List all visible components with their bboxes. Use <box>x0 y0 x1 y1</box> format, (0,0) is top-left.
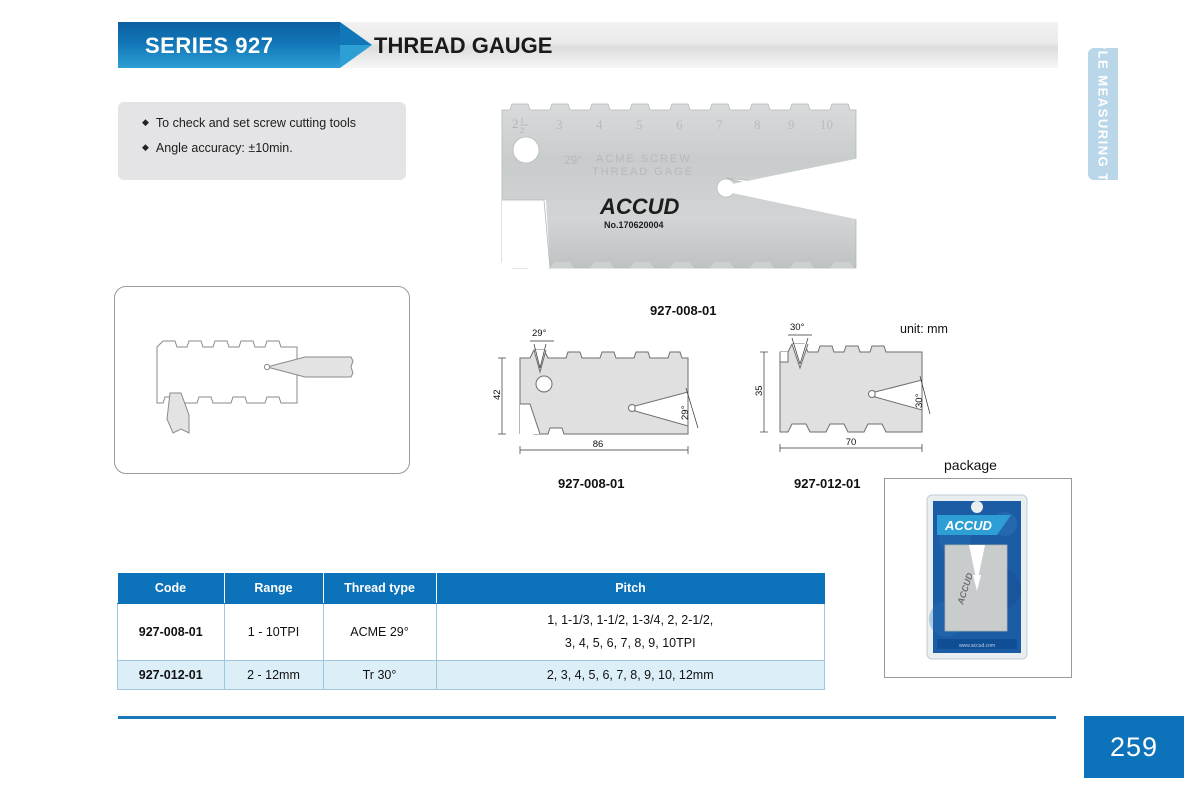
svg-text:www.accud.com: www.accud.com <box>959 643 995 649</box>
feature-box: ◆To check and set screw cutting tools ◆A… <box>118 102 406 180</box>
drawing-caption-1: 927-008-01 <box>558 476 625 491</box>
diamond-bullet-icon: ◆ <box>142 117 149 127</box>
page-header: SERIES 927 THREAD GAUGE <box>118 22 1058 68</box>
table-header-row: Code Range Thread type Pitch <box>118 573 825 604</box>
drawing-caption-2: 927-012-01 <box>794 476 861 491</box>
package-photo-box: ACCUD ACCUD www.accud.com <box>884 478 1072 678</box>
series-label: SERIES 927 <box>145 33 274 59</box>
svg-text:No.170620004: No.170620004 <box>604 220 664 230</box>
column-header-code: Code <box>118 573 225 604</box>
feature-text: To check and set screw cutting tools <box>156 116 356 130</box>
dimension-drawing-927-012-01: 30° 30° 35 70 <box>752 316 952 466</box>
feature-text: Angle accuracy: ±10min. <box>156 141 293 155</box>
svg-text:4: 4 <box>596 117 603 132</box>
unit-note: unit: mm <box>900 322 948 336</box>
svg-text:1: 1 <box>778 242 783 253</box>
svg-text:1½: 1½ <box>600 242 613 253</box>
svg-text:ACCUD: ACCUD <box>944 518 993 533</box>
svg-text:THREAD GAGE: THREAD GAGE <box>592 166 694 178</box>
page-title: THREAD GAUGE <box>374 33 552 59</box>
column-header-thread-type: Thread type <box>323 573 436 604</box>
cell-pitch: 1, 1-1/3, 1-1/2, 1-3/4, 2, 2-1/2, 3, 4, … <box>436 604 825 661</box>
svg-text:ACME SCREW: ACME SCREW <box>596 153 692 165</box>
specifications-table: Code Range Thread type Pitch 927-008-01 … <box>117 573 825 690</box>
package-label: package <box>944 457 997 473</box>
svg-text:7: 7 <box>716 117 723 132</box>
height-dimension-label-2: 35 <box>754 385 765 396</box>
svg-text:1: 1 <box>520 116 524 125</box>
product-photo: 2 1 2 3 4 5 6 7 8 9 10 29° ACME SCREW TH… <box>488 92 860 282</box>
width-dimension-label-2: 70 <box>846 437 857 448</box>
svg-text:5: 5 <box>636 117 643 132</box>
svg-text:1¾: 1¾ <box>558 242 571 253</box>
catalog-page: SERIES 927 THREAD GAUGE SIMPLE MEASURING… <box>0 0 1184 800</box>
table-row: 927-012-01 2 - 12mm Tr 30° 2, 3, 4, 5, 6… <box>118 661 825 690</box>
feature-list: ◆To check and set screw cutting tools ◆A… <box>142 116 356 166</box>
angle-label-right-2: 30° <box>914 393 925 408</box>
angle-label-top-2: 30° <box>790 322 805 333</box>
height-dimension-label: 42 <box>492 389 503 400</box>
section-tab-label: SIMPLE MEASURING TOOL <box>1096 13 1111 215</box>
cell-pitch: 2, 3, 4, 5, 6, 7, 8, 9, 10, 12mm <box>436 661 825 690</box>
svg-text:2: 2 <box>520 126 524 135</box>
svg-text:10: 10 <box>820 117 833 132</box>
list-item: ◆To check and set screw cutting tools <box>142 116 356 130</box>
list-item: ◆Angle accuracy: ±10min. <box>142 141 356 155</box>
svg-text:8: 8 <box>754 117 761 132</box>
footer-divider <box>118 716 1056 719</box>
page-number: 259 <box>1084 716 1184 778</box>
drawing-svg-1: 29° 29° 42 86 <box>488 316 718 476</box>
svg-text:3: 3 <box>556 117 563 132</box>
dimension-drawing-927-008-01: 29° 29° 42 86 <box>488 316 718 476</box>
column-header-pitch: Pitch <box>436 573 825 604</box>
svg-text:9: 9 <box>788 117 795 132</box>
cell-code: 927-012-01 <box>118 661 225 690</box>
section-tab-simple-measuring-tool[interactable]: SIMPLE MEASURING TOOL <box>1088 48 1118 180</box>
package-illustration: ACCUD ACCUD www.accud.com <box>885 479 1069 675</box>
svg-text:2: 2 <box>512 116 519 131</box>
thread-gauge-illustration: 2 1 2 3 4 5 6 7 8 9 10 29° ACME SCREW TH… <box>488 92 860 282</box>
angle-label-top: 29° <box>532 328 547 339</box>
cell-thread-type: Tr 30° <box>323 661 436 690</box>
table-row: 927-008-01 1 - 10TPI ACME 29° 1, 1-1/3, … <box>118 604 825 661</box>
svg-text:1⅓: 1⅓ <box>650 242 663 253</box>
svg-text:ACCUD: ACCUD <box>599 194 680 219</box>
drawing-svg-2: 30° 30° 35 70 <box>752 316 952 466</box>
width-dimension-label: 86 <box>593 439 604 450</box>
diamond-bullet-icon: ◆ <box>142 142 149 152</box>
usage-diagram-box <box>114 286 410 474</box>
usage-diagram <box>115 287 409 473</box>
cell-range: 2 - 12mm <box>224 661 323 690</box>
svg-text:6: 6 <box>676 117 683 132</box>
column-header-range: Range <box>224 573 323 604</box>
cell-thread-type: ACME 29° <box>323 604 436 661</box>
svg-text:29°: 29° <box>564 153 582 167</box>
cell-range: 1 - 10TPI <box>224 604 323 661</box>
svg-text:1¼: 1¼ <box>700 242 713 253</box>
pitch-line-2: 3, 4, 5, 6, 7, 8, 9, 10TPI <box>441 632 821 655</box>
cell-code: 927-008-01 <box>118 604 225 661</box>
angle-label-right: 29° <box>680 405 691 420</box>
pitch-line-1: 1, 1-1/3, 1-1/2, 1-3/4, 2, 2-1/2, <box>441 609 821 632</box>
